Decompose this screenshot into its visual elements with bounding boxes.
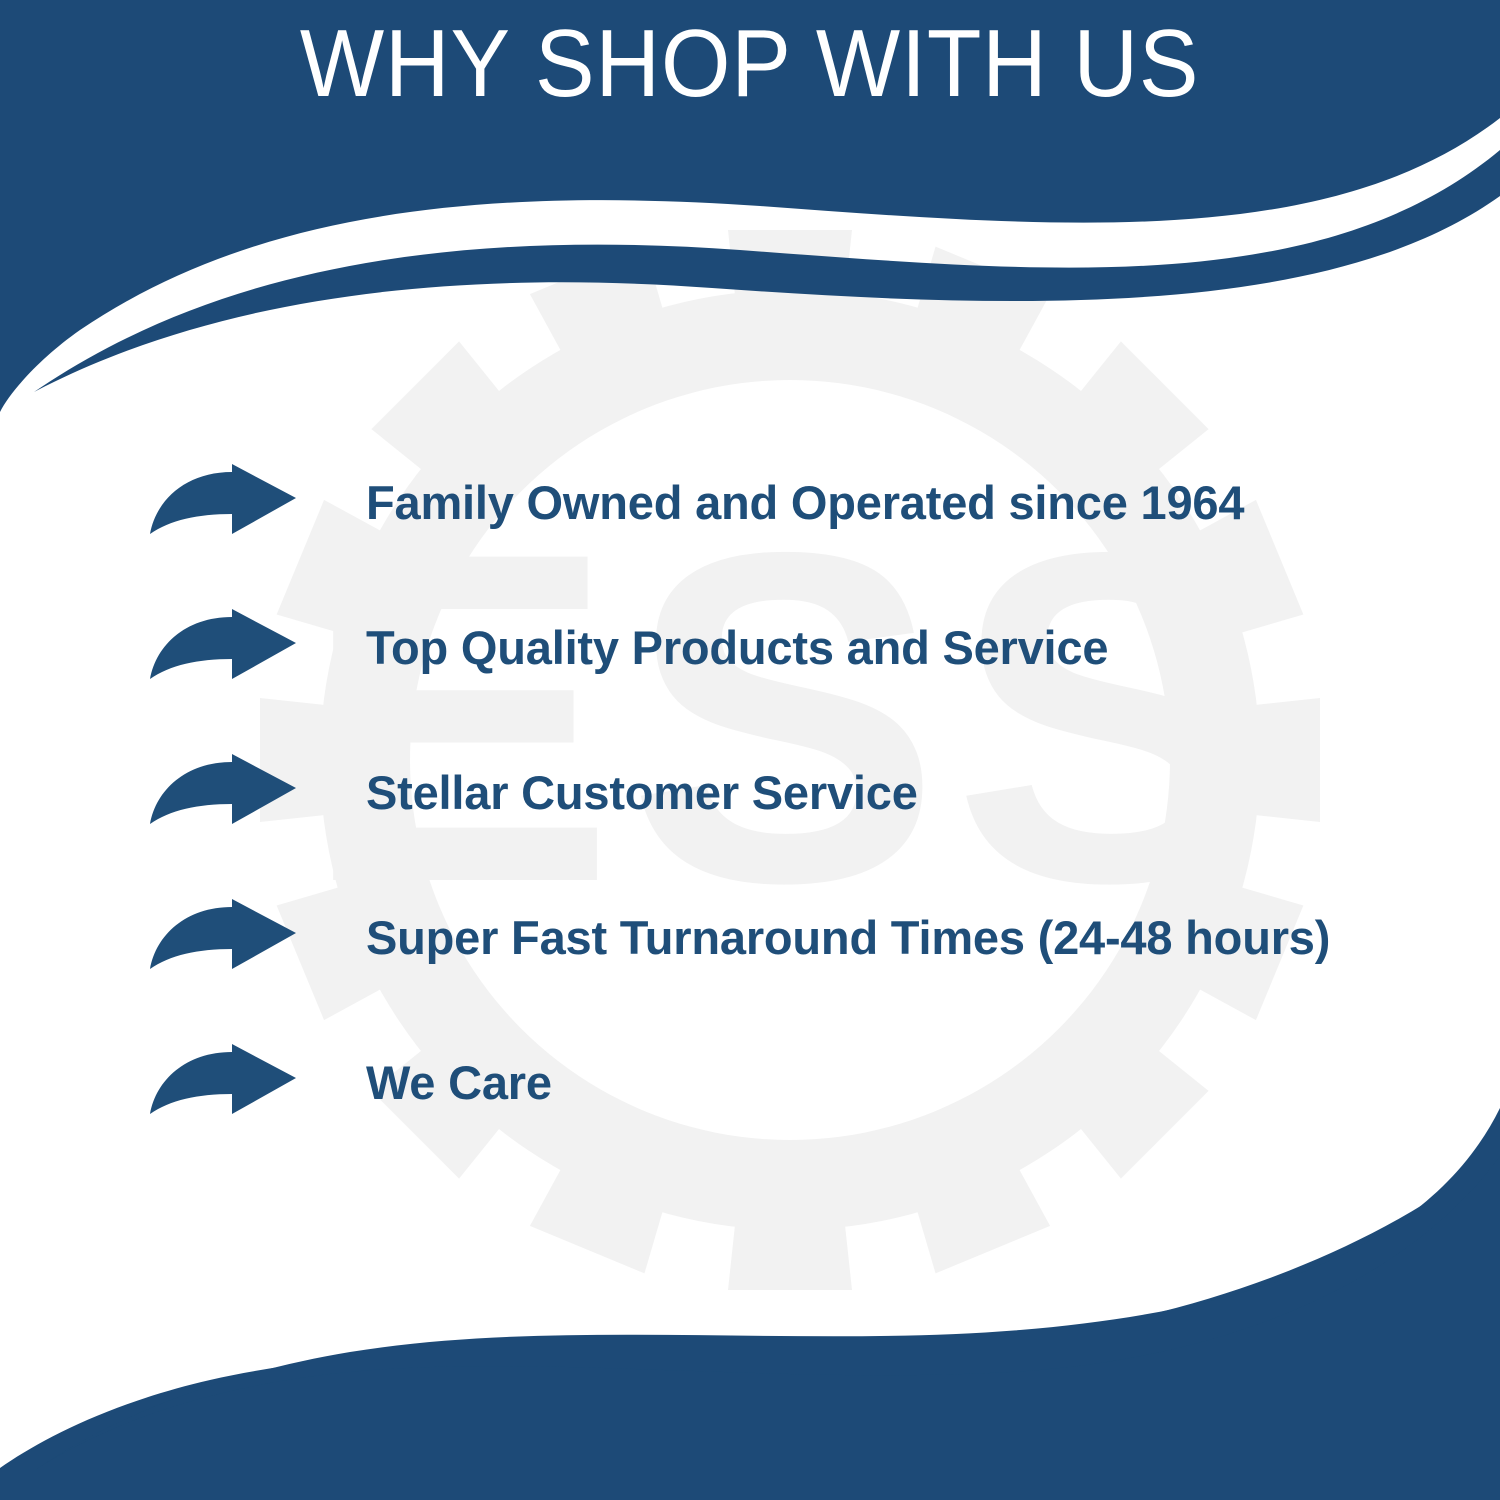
curved-arrow-right-icon xyxy=(148,899,298,977)
header-band: WHY SHOP WITH US xyxy=(0,0,1500,150)
list-item: Family Owned and Operated since 1964 xyxy=(0,430,1500,575)
arrow-slot xyxy=(148,754,368,832)
list-item: Super Fast Turnaround Times (24-48 hours… xyxy=(0,865,1500,1010)
curved-arrow-right-icon xyxy=(148,1044,298,1122)
list-item-label: We Care xyxy=(366,1057,552,1109)
top-ribbon-swoosh xyxy=(34,150,1500,392)
list-item-label: Stellar Customer Service xyxy=(366,767,918,819)
list-item-label: Top Quality Products and Service xyxy=(366,622,1108,674)
page-title: WHY SHOP WITH US xyxy=(300,0,1199,115)
why-shop-with-us-poster: ESS WHY SHOP WITH US Family Owned and Op… xyxy=(0,0,1500,1500)
list-item-label: Super Fast Turnaround Times (24-48 hours… xyxy=(366,912,1330,964)
arrow-slot xyxy=(148,899,368,977)
list-item: Stellar Customer Service xyxy=(0,720,1500,865)
curved-arrow-right-icon xyxy=(148,464,298,542)
curved-arrow-right-icon xyxy=(148,609,298,687)
curved-arrow-right-icon xyxy=(148,754,298,832)
arrow-slot xyxy=(148,464,368,542)
bottom-ribbon-swoosh xyxy=(35,1108,1500,1470)
benefits-list: Family Owned and Operated since 1964 Top… xyxy=(0,430,1500,1155)
arrow-slot xyxy=(148,609,368,687)
list-item: Top Quality Products and Service xyxy=(0,575,1500,720)
list-item-label: Family Owned and Operated since 1964 xyxy=(366,477,1244,529)
bottom-blue-band xyxy=(0,1150,1500,1500)
arrow-slot xyxy=(148,1044,368,1122)
list-item: We Care xyxy=(0,1010,1500,1155)
